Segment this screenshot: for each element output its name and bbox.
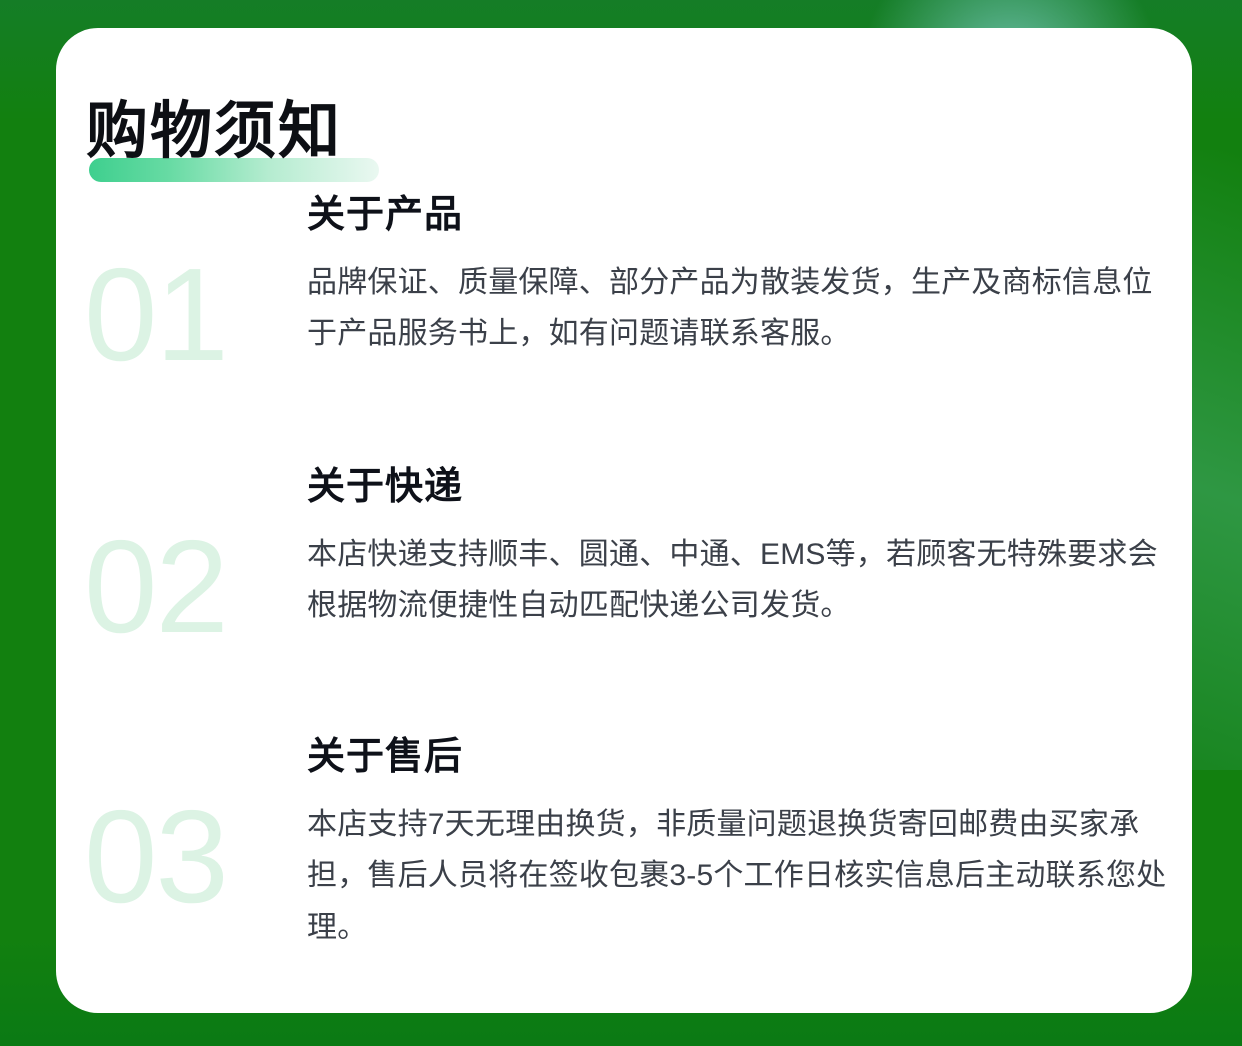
section-body-02: 关于快递 本店快递支持顺丰、圆通、中通、EMS等，若顾客无特殊要求会根据物流便捷… bbox=[307, 465, 1167, 632]
section-number-02: 02 bbox=[84, 521, 304, 653]
section-heading-product: 关于产品 bbox=[307, 193, 1167, 239]
page-title-wrapper: 购物须知 bbox=[86, 76, 342, 188]
section-text-shipping: 本店快递支持顺丰、圆通、中通、EMS等，若顾客无特殊要求会根据物流便捷性自动匹配… bbox=[307, 529, 1167, 632]
content-card: 购物须知 01 关于产品 品牌保证、质量保障、部分产品为散装发货，生产及商标信息… bbox=[56, 28, 1192, 1013]
section-number-03: 03 bbox=[84, 791, 304, 923]
section-number-01: 01 bbox=[84, 249, 304, 381]
section-heading-shipping: 关于快递 bbox=[307, 465, 1167, 511]
page-title: 购物须知 bbox=[86, 76, 342, 188]
section-body-03: 关于售后 本店支持7天无理由换货，非质量问题退换货寄回邮费由买家承担，售后人员将… bbox=[307, 735, 1167, 953]
shopping-notice-banner: 购物须知 01 关于产品 品牌保证、质量保障、部分产品为散装发货，生产及商标信息… bbox=[0, 0, 1242, 1046]
section-text-product: 品牌保证、质量保障、部分产品为散装发货，生产及商标信息位于产品服务书上，如有问题… bbox=[307, 257, 1167, 360]
section-heading-aftersales: 关于售后 bbox=[307, 735, 1167, 781]
section-body-01: 关于产品 品牌保证、质量保障、部分产品为散装发货，生产及商标信息位于产品服务书上… bbox=[307, 193, 1167, 360]
section-text-aftersales: 本店支持7天无理由换货，非质量问题退换货寄回邮费由买家承担，售后人员将在签收包裹… bbox=[307, 799, 1167, 954]
